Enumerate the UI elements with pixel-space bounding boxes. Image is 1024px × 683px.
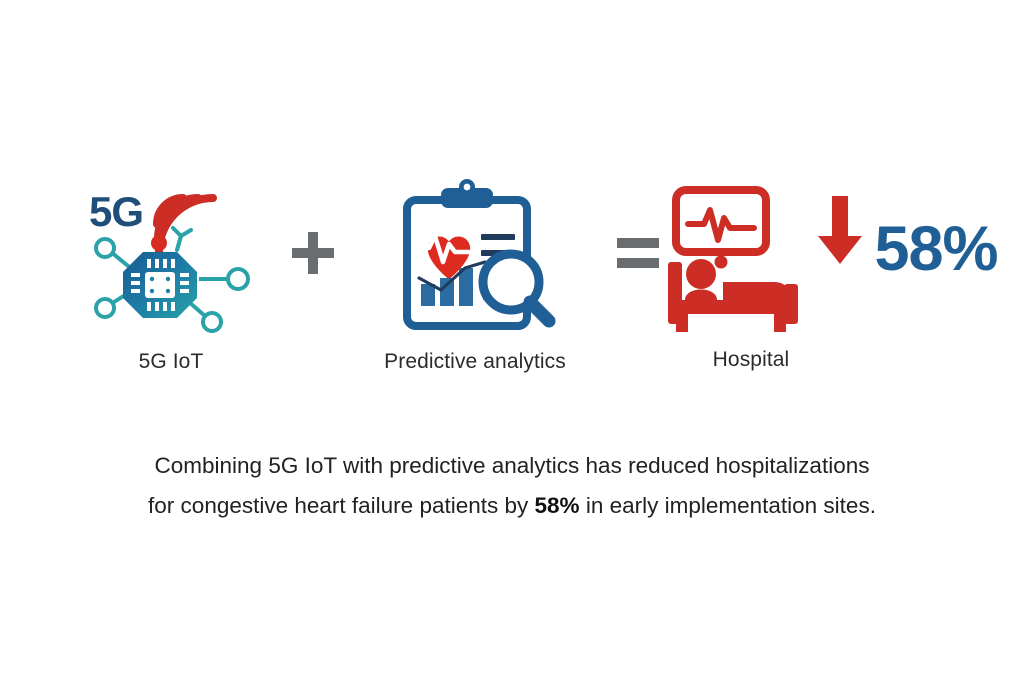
infographic-canvas: 5G [0, 0, 1024, 683]
5g-iot-chip-icon: 5G [81, 178, 261, 338]
term-5g-iot: 5G [66, 178, 276, 374]
term-hospital: 58% Hospital [676, 178, 976, 372]
caption-line-2-after: in early implementation sites. [580, 493, 876, 518]
plus-operator-icon [290, 178, 336, 338]
caption-highlight-percent: 58% [535, 493, 580, 518]
caption-line-2: for congestive heart failure patients by… [0, 486, 1024, 526]
5g-iot-art: 5G [81, 178, 261, 338]
arrow-down-icon [814, 178, 866, 338]
clipboard-analytics-icon [385, 178, 565, 338]
term-label-predictive-analytics: Predictive analytics [384, 350, 566, 374]
caption-block: Combining 5G IoT with predictive analyti… [0, 446, 1024, 526]
predictive-analytics-art [385, 178, 565, 338]
hospital-result-row: 58% [654, 178, 997, 338]
caption-line-2-before: for congestive heart failure patients by [148, 493, 534, 518]
term-predictive-analytics: Predictive analytics [350, 178, 600, 374]
hospital-bed-monitor-icon [654, 178, 814, 338]
svg-text:5G: 5G [89, 188, 143, 235]
equation-row: 5G [0, 178, 1024, 398]
term-label-hospital: Hospital [713, 348, 790, 372]
term-label-5g-iot: 5G IoT [139, 350, 204, 374]
result-percent-value: 58% [874, 218, 997, 281]
plus-glyph [290, 178, 336, 338]
caption-line-1: Combining 5G IoT with predictive analyti… [0, 446, 1024, 486]
